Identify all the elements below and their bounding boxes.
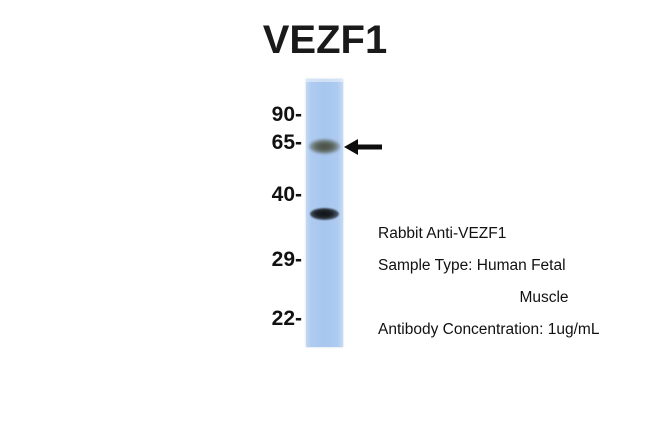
upper-band	[309, 139, 340, 154]
annotation-block: Rabbit Anti-VEZF1 Sample Type: Human Fet…	[378, 218, 650, 346]
marker-label-90: 90-	[232, 103, 302, 127]
band-pointer-arrow	[344, 137, 382, 157]
annotation-line-sample-type: Sample Type: Human Fetal	[378, 250, 650, 282]
annotation-line-antibody-name: Rabbit Anti-VEZF1	[378, 218, 650, 250]
annotation-line-sample-type-continued: Muscle	[378, 282, 650, 314]
lower-band	[310, 208, 339, 220]
western-blot-figure: VEZF1 90- 65- 40- 29- 22- Rabbit Anti-VE…	[0, 0, 650, 433]
marker-label-40: 40-	[232, 183, 302, 207]
figure-title: VEZF1	[0, 18, 650, 63]
molecular-weight-ladder: 90- 65- 40- 29- 22-	[230, 0, 302, 433]
annotation-line-antibody-concentration: Antibody Concentration: 1ug/mL	[378, 314, 650, 346]
marker-label-29: 29-	[232, 248, 302, 272]
gel-lane	[306, 79, 343, 347]
marker-label-65: 65-	[232, 131, 302, 155]
marker-label-22: 22-	[232, 307, 302, 331]
